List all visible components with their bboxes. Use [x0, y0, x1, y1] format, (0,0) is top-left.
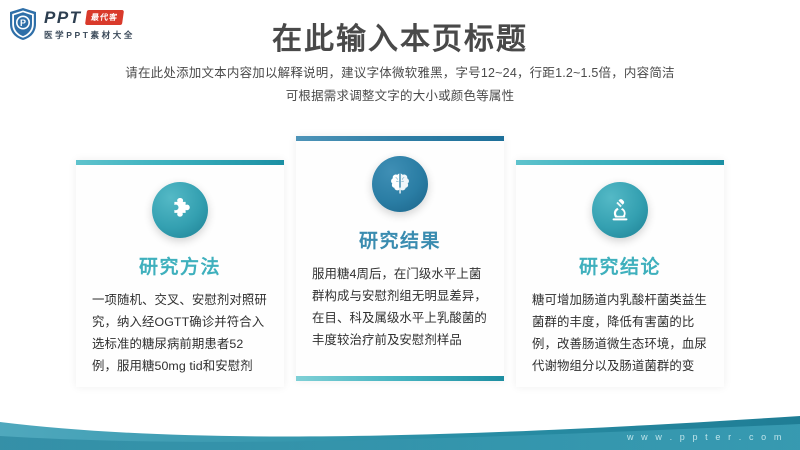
puzzle-piece-icon: [152, 182, 208, 238]
card-top-accent-bar: [76, 160, 284, 165]
page-subtitle: 请在此处添加文本内容加以解释说明，建议字体微软雅黑，字号12~24，行距1.2~…: [0, 62, 800, 108]
subtitle-line-2: 可根据需求调整文字的大小或颜色等属性: [0, 85, 800, 108]
page-title: 在此输入本页标题: [0, 14, 800, 58]
card-body-text: 一项随机、交叉、安慰剂对照研究，纳入经OGTT确诊并符合入选标准的糖尿病前期患者…: [76, 279, 284, 377]
footer-wave-decoration: [0, 410, 800, 450]
card-research-method[interactable]: 研究方法 一项随机、交叉、安慰剂对照研究，纳入经OGTT确诊并符合入选标准的糖尿…: [76, 160, 284, 387]
brain-icon: [372, 156, 428, 212]
card-title: 研究结论: [579, 252, 661, 279]
card-top-accent-bar: [516, 160, 724, 165]
card-title: 研究方法: [139, 252, 221, 279]
card-title: 研究结果: [359, 226, 441, 253]
card-top-accent-bar: [296, 136, 504, 141]
card-research-result[interactable]: 研究结果 服用糖4周后，在门级水平上菌群构成与安慰剂组无明显差异，在目、科及属级…: [296, 136, 504, 381]
microscope-icon: [592, 182, 648, 238]
card-research-conclusion[interactable]: 研究结论 糖可增加肠道内乳酸杆菌类益生菌群的丰度，降低有害菌的比例，改善肠道微生…: [516, 160, 724, 387]
footer-url: w w w . p p t e r . c o m: [627, 432, 784, 442]
card-bottom-accent-bar: [296, 376, 504, 381]
card-body-text: 糖可增加肠道内乳酸杆菌类益生菌群的丰度，降低有害菌的比例，改善肠道微生态环境，血…: [516, 279, 724, 377]
subtitle-line-1: 请在此处添加文本内容加以解释说明，建议字体微软雅黑，字号12~24，行距1.2~…: [0, 62, 800, 85]
card-body-text: 服用糖4周后，在门级水平上菌群构成与安慰剂组无明显差异，在目、科及属级水平上乳酸…: [296, 253, 504, 351]
